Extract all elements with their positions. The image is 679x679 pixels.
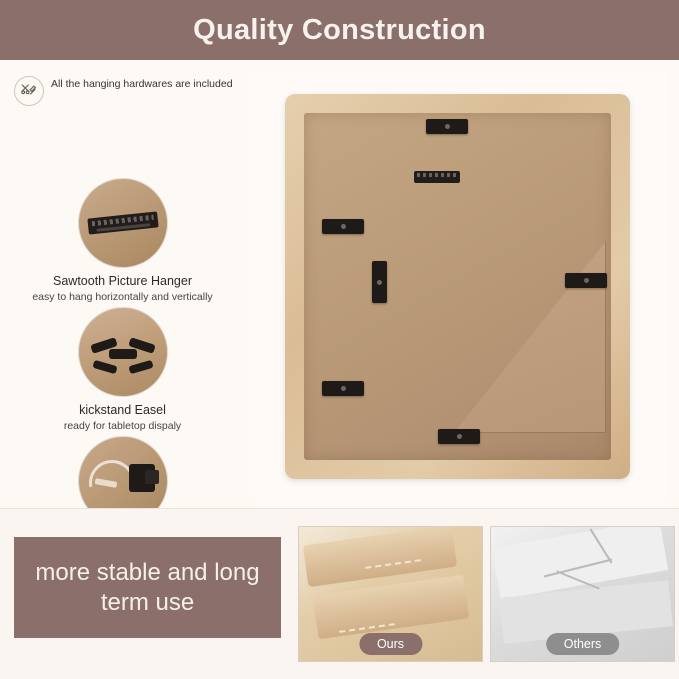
sawtooth-hanger-icon bbox=[78, 178, 168, 268]
main-panel: All the hanging hardwares are included S… bbox=[0, 60, 679, 509]
others-comparison: Others bbox=[490, 526, 675, 662]
tools-icon bbox=[14, 76, 44, 106]
clip-left-upper bbox=[322, 219, 364, 234]
kickstand-panel bbox=[454, 241, 606, 433]
feature-title: kickstand Easel bbox=[0, 403, 245, 418]
clip-top bbox=[426, 119, 468, 134]
hardware-note: All the hanging hardwares are included bbox=[14, 74, 234, 106]
ours-comparison: Ours bbox=[298, 526, 483, 662]
hardware-note-text: All the hanging hardwares are included bbox=[51, 74, 233, 91]
feature-easel: kickstand Easel ready for tabletop dispa… bbox=[0, 307, 245, 433]
clip-left-lower bbox=[322, 381, 364, 396]
clip-mid-left bbox=[372, 261, 387, 303]
ours-label: Ours bbox=[359, 633, 422, 655]
others-label: Others bbox=[546, 633, 620, 655]
stability-banner: more stable and long term use bbox=[14, 537, 281, 638]
sawtooth-hanger-frame bbox=[414, 171, 460, 183]
wooden-frame bbox=[285, 94, 630, 479]
stability-banner-text: more stable and long term use bbox=[14, 558, 281, 618]
header-banner: Quality Construction bbox=[0, 0, 679, 60]
kickstand-easel-icon bbox=[78, 307, 168, 397]
mdf-backboard bbox=[304, 113, 611, 460]
features-column: All the hanging hardwares are included S… bbox=[0, 60, 245, 509]
feature-subtitle: ready for tabletop dispaly bbox=[0, 420, 245, 433]
feature-sawtooth: Sawtooth Picture Hanger easy to hang hor… bbox=[0, 178, 245, 304]
feature-title: Sawtooth Picture Hanger bbox=[0, 274, 245, 289]
bottom-section: more stable and long term use Ours Other… bbox=[0, 509, 679, 679]
product-infographic: Quality Construction All the hanging har… bbox=[0, 0, 679, 679]
feature-subtitle: easy to hang horizontally and vertically bbox=[0, 291, 245, 304]
page-title: Quality Construction bbox=[193, 14, 486, 47]
clip-bottom bbox=[438, 429, 480, 444]
clip-right-mid bbox=[565, 273, 607, 288]
picture-frame-back-photo bbox=[255, 72, 667, 497]
